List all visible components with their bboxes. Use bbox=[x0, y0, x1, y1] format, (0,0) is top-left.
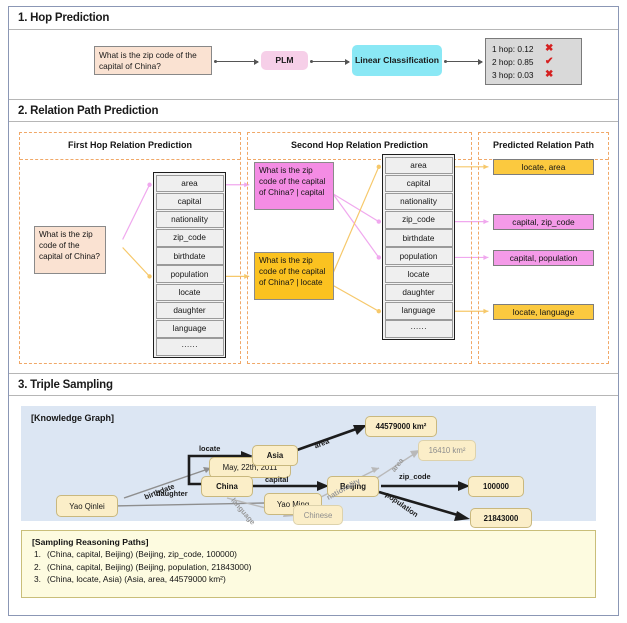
kg-node-population-value[interactable]: 21843000 bbox=[470, 508, 532, 528]
first-hop-panel-title: First Hop Relation Prediction bbox=[20, 140, 240, 150]
kg-node-asia-area-value[interactable]: 44579000 km² bbox=[365, 416, 437, 437]
panel-divider bbox=[20, 159, 240, 160]
hop-row: 2 hop: 0.85 ✔ bbox=[492, 55, 575, 68]
relation-item[interactable]: zip_code bbox=[156, 229, 224, 247]
hop-probability-box: 1 hop: 0.12 ✖ 2 hop: 0.85 ✔ 3 hop: 0.03 … bbox=[485, 38, 582, 85]
kg-edge-label-zipcode: zip_code bbox=[399, 472, 431, 481]
relation-item[interactable]: locate bbox=[156, 284, 224, 302]
sampling-path-number: 3. bbox=[34, 573, 47, 586]
predicted-path-item[interactable]: locate, area bbox=[493, 159, 594, 175]
section-2-body: First Hop Relation Prediction What is th… bbox=[9, 122, 618, 374]
relation-item[interactable]: daughter bbox=[385, 284, 453, 302]
kg-node-china[interactable]: China bbox=[201, 476, 253, 497]
relation-item[interactable]: birthdate bbox=[156, 247, 224, 265]
first-hop-question-box: What is the zip code of the capital of C… bbox=[34, 226, 106, 274]
sampling-path-item: 2.(China, capital, Beijing) (Beijing, po… bbox=[32, 561, 585, 574]
hop-row: 1 hop: 0.12 ✖ bbox=[492, 42, 575, 55]
arrow-question-to-plm bbox=[215, 61, 258, 62]
hop-3-label: 3 hop: 0.03 bbox=[492, 70, 538, 80]
relation-item[interactable]: language bbox=[156, 320, 224, 338]
section-2-title: 2. Relation Path Prediction bbox=[9, 100, 618, 122]
relation-item-ellipsis: ······ bbox=[385, 320, 453, 338]
sampling-path-number: 1. bbox=[34, 548, 47, 561]
kg-node-zipcode-value[interactable]: 100000 bbox=[468, 476, 524, 497]
predicted-path-item[interactable]: capital, population bbox=[493, 250, 594, 266]
sampling-path-text: (China, locate, Asia) (Asia, area, 44579… bbox=[47, 574, 226, 584]
predicted-path-item[interactable]: capital, zip_code bbox=[493, 214, 594, 230]
relation-item[interactable]: daughter bbox=[156, 302, 224, 320]
kg-node-chinese[interactable]: Chinese bbox=[293, 505, 343, 525]
kg-node-yao-qinlei[interactable]: Yao Qinlei bbox=[56, 495, 118, 517]
check-icon: ✔ bbox=[545, 57, 553, 67]
kg-edge-label-locate: locate bbox=[199, 444, 220, 453]
cross-icon: ✖ bbox=[545, 44, 553, 54]
kg-edge-label-daughter: daughter bbox=[156, 489, 188, 498]
relation-item-ellipsis: ······ bbox=[156, 338, 224, 356]
relation-item[interactable]: capital bbox=[156, 193, 224, 211]
relation-item[interactable]: population bbox=[156, 265, 224, 283]
arrow-plm-to-classifier bbox=[311, 61, 349, 62]
relation-item[interactable]: area bbox=[156, 175, 224, 193]
relation-item[interactable]: language bbox=[385, 302, 453, 320]
relation-item[interactable]: zip_code bbox=[385, 211, 453, 229]
sampling-path-item: 1.(China, capital, Beijing) (Beijing, zi… bbox=[32, 548, 585, 561]
hop-1-label: 1 hop: 0.12 bbox=[492, 44, 538, 54]
first-hop-relation-list: area capital nationality zip_code birthd… bbox=[153, 172, 226, 358]
relation-item[interactable]: locate bbox=[385, 266, 453, 284]
predicted-path-panel-title: Predicted Relation Path bbox=[479, 140, 608, 150]
arrow-classifier-to-hops bbox=[445, 61, 482, 62]
sampling-reasoning-paths-box: [Sampling Reasoning Paths] 1.(China, cap… bbox=[21, 530, 596, 598]
relation-item[interactable]: capital bbox=[385, 175, 453, 193]
kg-node-asia[interactable]: Asia bbox=[252, 445, 298, 466]
relation-item[interactable]: birthdate bbox=[385, 229, 453, 247]
section-1-title: 1. Hop Prediction bbox=[9, 7, 618, 30]
relation-item[interactable]: nationality bbox=[156, 211, 224, 229]
linear-classification-box: Linear Classification bbox=[352, 45, 442, 76]
relation-item[interactable]: area bbox=[385, 157, 453, 175]
relation-item[interactable]: population bbox=[385, 247, 453, 265]
sampling-paths-title: [Sampling Reasoning Paths] bbox=[32, 537, 585, 547]
second-hop-query-locate: What is the zip code of the capital of C… bbox=[254, 252, 334, 300]
section-3-body: [Knowledge Graph] bbox=[9, 396, 618, 615]
hop-row: 3 hop: 0.03 ✖ bbox=[492, 68, 575, 81]
second-hop-relation-list: area capital nationality zip_code birthd… bbox=[382, 154, 455, 340]
cross-icon: ✖ bbox=[545, 70, 553, 80]
plm-box: PLM bbox=[261, 51, 308, 70]
hop-2-label: 2 hop: 0.85 bbox=[492, 57, 538, 67]
section-1-body: What is the zip code of the capital of C… bbox=[9, 30, 618, 100]
second-hop-panel-title: Second Hop Relation Prediction bbox=[248, 140, 471, 150]
sampling-path-item: 3.(China, locate, Asia) (Asia, area, 445… bbox=[32, 573, 585, 586]
figure-frame: 1. Hop Prediction What is the zip code o… bbox=[8, 6, 619, 616]
knowledge-graph-canvas: [Knowledge Graph] bbox=[21, 406, 596, 521]
section-3-title: 3. Triple Sampling bbox=[9, 374, 618, 396]
hop-question-box: What is the zip code of the capital of C… bbox=[94, 46, 212, 75]
predicted-path-item[interactable]: locate, language bbox=[493, 304, 594, 320]
sampling-path-text: (China, capital, Beijing) (Beijing, popu… bbox=[47, 562, 251, 572]
sampling-path-number: 2. bbox=[34, 561, 47, 574]
relation-item[interactable]: nationality bbox=[385, 193, 453, 211]
kg-edge-label-capital: capital bbox=[265, 475, 288, 484]
kg-node-beijing-area-value[interactable]: 16410 km² bbox=[418, 440, 476, 461]
second-hop-query-capital: What is the zip code of the capital of C… bbox=[254, 162, 334, 210]
sampling-path-text: (China, capital, Beijing) (Beijing, zip_… bbox=[47, 549, 237, 559]
